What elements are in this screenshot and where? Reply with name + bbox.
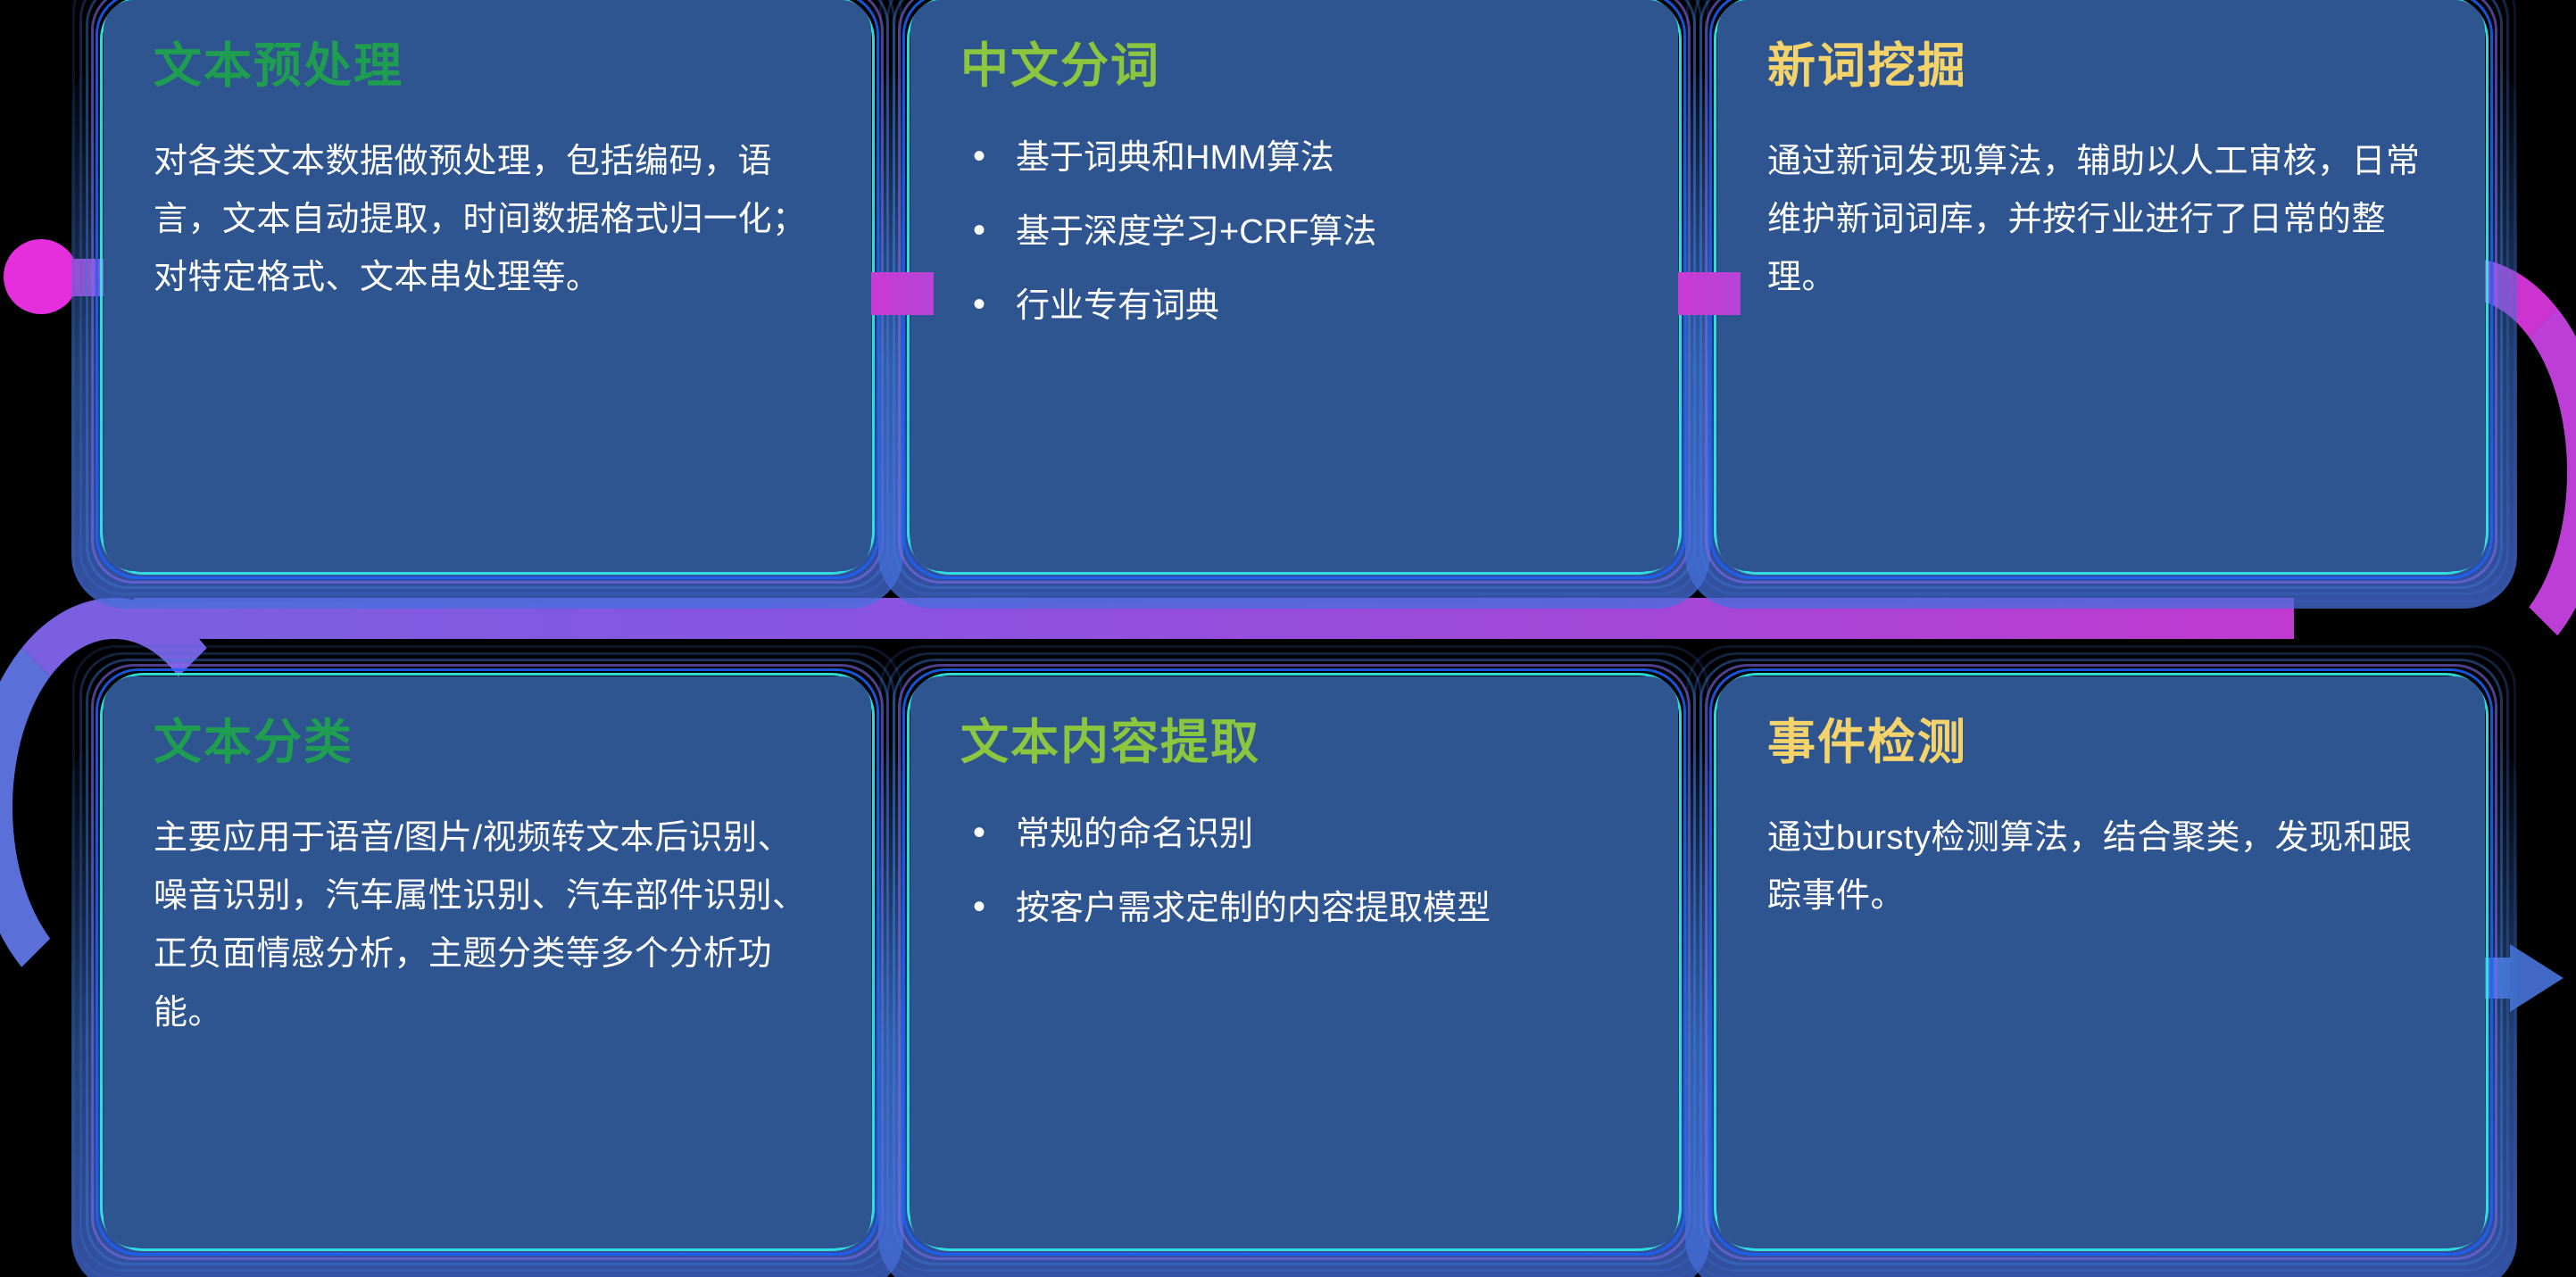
- card-event-detection[interactable]: 事件检测 通过bursty检测算法，结合聚类，发现和跟踪事件。: [1717, 676, 2485, 1248]
- card-bullet-list: 常规的命名识别 按客户需求定制的内容提取模型: [960, 809, 1628, 934]
- card-bullet-list: 基于词典和HMM算法 基于深度学习+CRF算法 行业专有词典: [960, 133, 1628, 332]
- card-wrap-1: 文本预处理 对各类文本数据做预处理，包括编码，语言，文本自动提取，时间数据格式归…: [104, 0, 871, 571]
- card-wrap-6: 事件检测 通过bursty检测算法，结合聚类，发现和跟踪事件。: [1717, 676, 2485, 1248]
- card-body: 对各类文本数据做预处理，包括编码，语言，文本自动提取，时间数据格式归一化；对特定…: [154, 133, 821, 308]
- list-item: 行业专有词典: [960, 281, 1628, 332]
- card-text-preprocessing[interactable]: 文本预处理 对各类文本数据做预处理，包括编码，语言，文本自动提取，时间数据格式归…: [104, 0, 871, 571]
- card-text-content-extraction[interactable]: 文本内容提取 常规的命名识别 按客户需求定制的内容提取模型: [910, 676, 1678, 1248]
- start-dot-icon: [4, 239, 79, 314]
- list-item: 常规的命名识别: [960, 809, 1628, 860]
- card-title: 中文分词: [960, 41, 1628, 92]
- card-new-word-mining[interactable]: 新词挖掘 通过新词发现算法，辅助以人工审核，日常维护新词词库，并按行业进行了日常…: [1717, 0, 2485, 571]
- card-title: 文本内容提取: [960, 717, 1628, 768]
- card-body: 通过bursty检测算法，结合聚类，发现和跟踪事件。: [1767, 809, 2435, 926]
- card-chinese-word-segmentation[interactable]: 中文分词 基于词典和HMM算法 基于深度学习+CRF算法 行业专有词典: [910, 0, 1678, 571]
- card-body: 主要应用于语音/图片/视频转文本后识别、噪音识别，汽车属性识别、汽车部件识别、正…: [154, 809, 821, 1042]
- card-body: 通过新词发现算法，辅助以人工审核，日常维护新词词库，并按行业进行了日常的整理。: [1767, 133, 2435, 308]
- card-text-classification[interactable]: 文本分类 主要应用于语音/图片/视频转文本后识别、噪音识别，汽车属性识别、汽车部…: [104, 676, 871, 1248]
- connector-bar-1-2: [871, 272, 934, 315]
- card-wrap-3: 新词挖掘 通过新词发现算法，辅助以人工审核，日常维护新词词库，并按行业进行了日常…: [1717, 0, 2485, 571]
- connector-bar-2-3: [1678, 272, 1741, 315]
- card-wrap-5: 文本内容提取 常规的命名识别 按客户需求定制的内容提取模型: [910, 676, 1678, 1248]
- list-item: 基于深度学习+CRF算法: [960, 207, 1628, 258]
- card-title: 文本预处理: [154, 41, 821, 92]
- card-wrap-2: 中文分词 基于词典和HMM算法 基于深度学习+CRF算法 行业专有词典: [910, 0, 1678, 571]
- card-title: 文本分类: [154, 717, 821, 768]
- list-item: 基于词典和HMM算法: [960, 133, 1628, 184]
- infographic-canvas: 文本预处理 对各类文本数据做预处理，包括编码，语言，文本自动提取，时间数据格式归…: [0, 0, 2576, 1277]
- card-title: 事件检测: [1767, 717, 2435, 768]
- card-row-2: 文本分类 主要应用于语音/图片/视频转文本后识别、噪音识别，汽车属性识别、汽车部…: [104, 676, 2485, 1248]
- card-wrap-4: 文本分类 主要应用于语音/图片/视频转文本后识别、噪音识别，汽车属性识别、汽车部…: [104, 676, 871, 1248]
- connector-top-horizontal-purple: [134, 598, 2294, 639]
- arrow-right-icon: [2510, 944, 2564, 1012]
- card-title: 新词挖掘: [1767, 41, 2435, 92]
- list-item: 按客户需求定制的内容提取模型: [960, 883, 1628, 934]
- card-row-1: 文本预处理 对各类文本数据做预处理，包括编码，语言，文本自动提取，时间数据格式归…: [104, 0, 2485, 571]
